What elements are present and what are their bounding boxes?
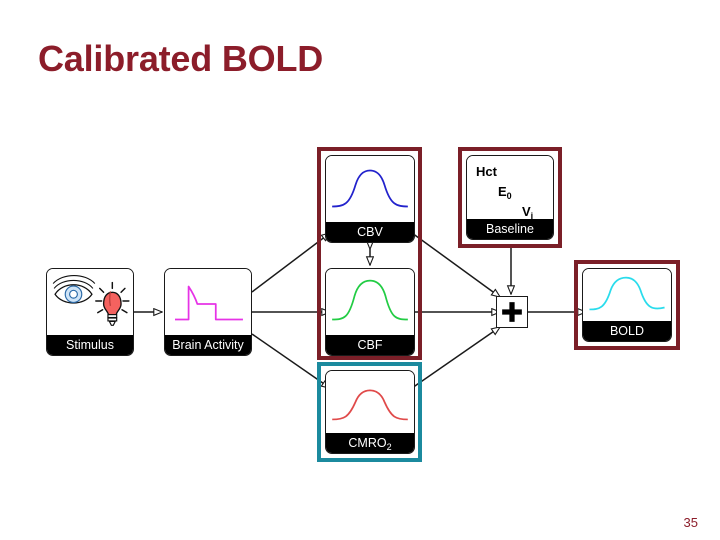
lightbulb-icon bbox=[96, 283, 129, 326]
plus-icon bbox=[502, 302, 522, 322]
node-brain-activity[interactable]: Brain Activity bbox=[164, 268, 252, 356]
node-baseline[interactable]: Hct E0 Vi Baseline bbox=[466, 155, 554, 240]
baseline-param-e0-symbol: E bbox=[498, 184, 507, 199]
cmro2-label: CMRO2 bbox=[326, 433, 414, 453]
bold-response-curve bbox=[589, 278, 664, 310]
slide: Calibrated BOLD bbox=[0, 0, 720, 540]
brain-activity-label: Brain Activity bbox=[165, 335, 251, 355]
bold-plot bbox=[583, 269, 671, 321]
cbv-plot bbox=[326, 156, 414, 222]
baseline-param-hct-symbol: Hct bbox=[476, 164, 497, 179]
page-number: 35 bbox=[684, 515, 698, 530]
neural-response-waveform bbox=[175, 286, 243, 319]
cmro2-label-subscript: 2 bbox=[387, 442, 392, 452]
node-cbf[interactable]: CBF bbox=[325, 268, 415, 356]
baseline-param-e0-subscript: 0 bbox=[507, 191, 512, 201]
calibrated-bold-flow-diagram: Stimulus Brain Activity CBV bbox=[0, 0, 720, 540]
cbf-plot bbox=[326, 269, 414, 335]
bold-label: BOLD bbox=[583, 321, 671, 341]
baseline-param-vi: Vi bbox=[522, 204, 533, 219]
baseline-parameters: Hct E0 Vi bbox=[467, 156, 553, 219]
cmro2-plot bbox=[326, 371, 414, 433]
cbf-label: CBF bbox=[326, 335, 414, 355]
node-bold[interactable]: BOLD bbox=[582, 268, 672, 342]
node-cmro2[interactable]: CMRO2 bbox=[325, 370, 415, 454]
baseline-param-e0: E0 bbox=[498, 184, 512, 199]
baseline-param-hct: Hct bbox=[476, 164, 497, 179]
cbv-response-curve bbox=[332, 171, 408, 207]
brain-activity-plot bbox=[165, 269, 251, 335]
cbv-label: CBV bbox=[326, 222, 414, 242]
node-cbv[interactable]: CBV bbox=[325, 155, 415, 243]
node-stimulus[interactable]: Stimulus bbox=[46, 268, 134, 356]
cmro2-label-text: CMRO bbox=[348, 436, 386, 450]
eye-icon bbox=[53, 276, 95, 303]
summation-operator[interactable]: + bbox=[496, 296, 528, 328]
baseline-label: Baseline bbox=[467, 219, 553, 239]
baseline-param-vi-symbol: V bbox=[522, 204, 531, 219]
stimulus-illustration bbox=[47, 269, 133, 335]
baseline-param-vi-subscript: i bbox=[531, 211, 534, 219]
cmro2-response-curve bbox=[332, 390, 408, 419]
stimulus-label: Stimulus bbox=[47, 335, 133, 355]
wire-cmro2-to-sum bbox=[412, 327, 500, 388]
cbf-response-curve bbox=[332, 281, 408, 320]
